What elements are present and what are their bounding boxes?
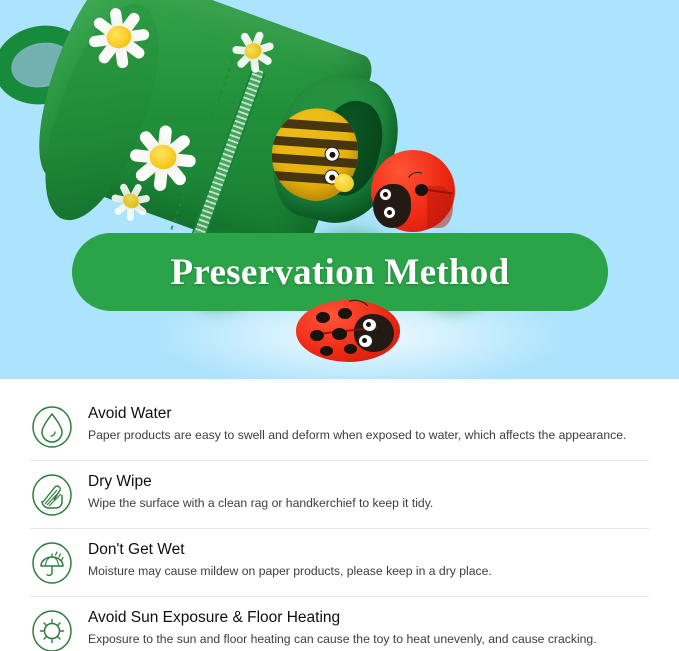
ladybug-toy (371, 150, 455, 232)
tip-text: Avoid Water Paper products are easy to s… (88, 403, 649, 444)
tip-description: Moisture may cause mildew on paper produ… (88, 563, 649, 579)
tip-text: Dry Wipe Wipe the surface with a clean r… (88, 471, 649, 512)
tip-description: Exposure to the sun and floor heating ca… (88, 631, 649, 647)
hand-wipe-icon (30, 473, 74, 517)
tip-text: Don't Get Wet Moisture may cause mildew … (88, 539, 649, 580)
umbrella-rain-icon (30, 541, 74, 585)
tip-row-dry-wipe: Dry Wipe Wipe the surface with a clean r… (30, 461, 649, 529)
tip-text: Avoid Sun Exposure & Floor Heating Expos… (88, 607, 649, 648)
tip-row-avoid-sun: Avoid Sun Exposure & Floor Heating Expos… (30, 597, 649, 651)
tip-title: Dry Wipe (88, 472, 649, 491)
tip-row-avoid-water: Avoid Water Paper products are easy to s… (30, 393, 649, 461)
ladybug-toy-front (296, 300, 400, 362)
tip-title: Don't Get Wet (88, 540, 649, 559)
preservation-tips-list: Avoid Water Paper products are easy to s… (0, 379, 679, 651)
water-drop-icon (30, 405, 74, 449)
hero-product-photo: Preservation Method (0, 0, 679, 379)
product-info-page: Preservation Method Avoid Water Paper pr… (0, 0, 679, 651)
tip-title: Avoid Water (88, 404, 649, 423)
tip-row-dont-get-wet: Don't Get Wet Moisture may cause mildew … (30, 529, 649, 597)
sun-icon (30, 609, 74, 651)
tip-title: Avoid Sun Exposure & Floor Heating (88, 608, 649, 627)
tip-description: Wipe the surface with a clean rag or han… (88, 495, 649, 511)
daisy-decoration (80, 0, 158, 76)
tip-description: Paper products are easy to swell and def… (88, 427, 649, 443)
